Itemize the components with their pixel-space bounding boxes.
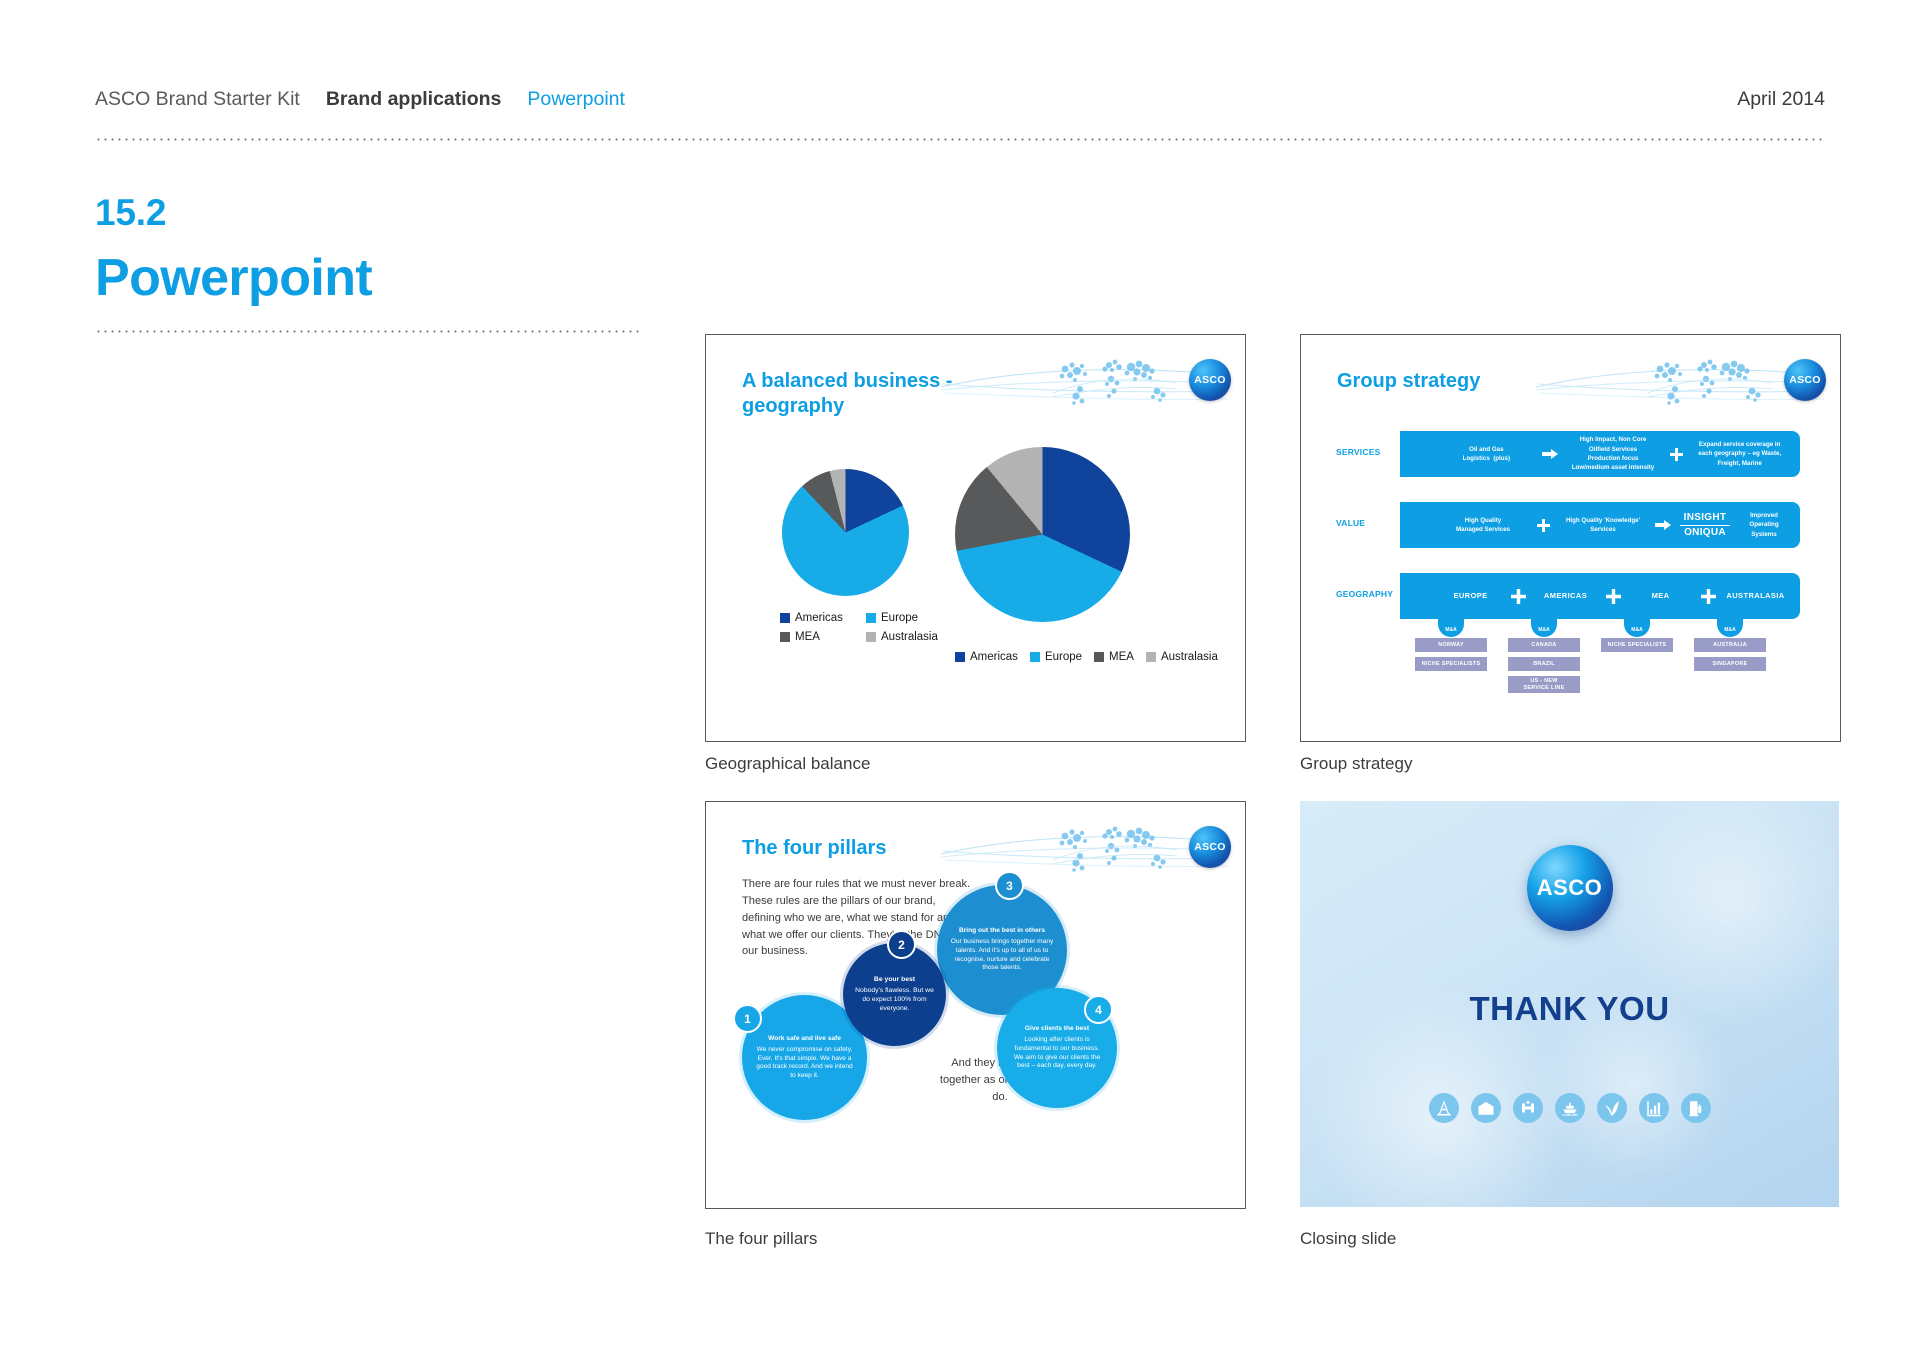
legend-label-mea: MEA (1109, 651, 1134, 663)
legend-label-americas: Americas (970, 651, 1018, 663)
geo-chip-australia: AUSTRALIA (1694, 638, 1766, 652)
ma-bubble-mea: M&A (1624, 619, 1650, 637)
asco-logo-badge: ASCO (1189, 359, 1231, 401)
asco-logo-text: ASCO (1194, 374, 1226, 386)
legend-label-americas: Americas (795, 612, 843, 624)
slide-title-line-2: geography (742, 394, 952, 419)
legend-swatch-americas (955, 652, 965, 662)
geo-cell-europe: EUROPE (1434, 590, 1507, 601)
warehouse-icon (1471, 1093, 1501, 1123)
legend-swatch-australasia (1146, 652, 1156, 662)
strategy-band-geography: EUROPE AMERICAS MEA AUSTRALASIA (1400, 573, 1800, 619)
breadcrumb: ASCO Brand Starter Kit Brand application… (95, 88, 1825, 111)
legend-label-australasia: Australasia (881, 631, 938, 643)
pie-legend-large: Americas Europe MEA Australasia (955, 651, 1230, 663)
breadcrumb-section: Brand applications (326, 88, 502, 111)
strategy-cell-value-2: High Quality 'Knowledge'Services (1554, 516, 1652, 535)
ma-bubble-australasia: M&A (1717, 619, 1743, 637)
caption-geographical-balance: Geographical balance (705, 754, 870, 774)
strategy-band-value: High QualityManaged Services High Qualit… (1400, 502, 1800, 548)
closing-icon-strip (1300, 1093, 1839, 1123)
slide-title-four-pillars: The four pillars (742, 836, 886, 861)
pie-chart-large (955, 447, 1130, 622)
pillar-body-2: Nobody's flawless. But we do expect 100%… (854, 987, 935, 1013)
caption-group-strategy: Group strategy (1300, 754, 1412, 774)
asco-logo-badge: ASCO (1784, 359, 1826, 401)
strategy-insight-oniqua: INSIGHT ONIQUA (1674, 512, 1736, 538)
caption-four-pillars: The four pillars (705, 1229, 817, 1249)
geo-chip-canada: CANADA (1508, 638, 1580, 652)
geo-chip-niche-specialists-mea: NICHE SPECIALISTS (1601, 638, 1673, 652)
insight-label: INSIGHT (1674, 512, 1736, 523)
plus-icon (1532, 519, 1554, 532)
pillar-number-2: 2 (887, 930, 916, 959)
legend-label-europe: Europe (881, 612, 918, 624)
page-title: Powerpoint (95, 248, 372, 308)
asco-logo-text: ASCO (1537, 875, 1603, 901)
slide-title-line-1: A balanced business - (742, 369, 952, 394)
legend-swatch-europe (866, 613, 876, 623)
strategy-cell-value-note: ImprovedOperatingSystems (1736, 511, 1792, 539)
geo-chip-norway: NORWAY (1415, 638, 1487, 652)
slide-geographical-balance[interactable]: ASCO A balanced business - geography Ame… (705, 334, 1246, 742)
legend-swatch-mea (1094, 652, 1104, 662)
pillar-number-1: 1 (733, 1004, 762, 1033)
strategy-row-label-value: VALUE (1336, 518, 1400, 528)
pillar-body-4: Looking after clients is fundamental to … (1009, 1036, 1105, 1070)
world-map-icon (1644, 353, 1774, 411)
bar-chart-icon (1639, 1093, 1669, 1123)
legend-label-mea: MEA (795, 631, 820, 643)
legend-swatch-australasia (866, 632, 876, 642)
arrow-right-icon (1652, 520, 1674, 530)
geo-chip-singapore: SINGAPORE (1694, 657, 1766, 671)
legend-swatch-mea (780, 632, 790, 642)
slide-closing[interactable]: ASCO THANK YOU (1300, 801, 1839, 1207)
geo-chip-brazil: BRAZIL (1508, 657, 1580, 671)
slide-title-group-strategy: Group strategy (1337, 369, 1480, 394)
geo-cell-mea: MEA (1624, 590, 1697, 601)
strategy-row-label-services: SERVICES (1336, 447, 1400, 457)
ma-bubble-europe: M&A (1438, 619, 1464, 637)
slide-group-strategy[interactable]: ASCO Group strategy SERVICES Oil and Gas… (1300, 334, 1841, 742)
breadcrumb-kit: ASCO Brand Starter Kit (95, 88, 300, 111)
pillar-body-3: Our business brings together many talent… (950, 938, 1054, 972)
strategy-row-label-geography: GEOGRAPHY (1336, 589, 1400, 599)
thank-you-message: THANK YOU (1300, 990, 1839, 1028)
oil-rig-icon (1429, 1093, 1459, 1123)
plus-icon (1507, 589, 1529, 604)
strategy-cell-services-2: High Impact, Non CoreOilfield ServicesPr… (1561, 435, 1666, 472)
pillar-heading-1: Work safe and live safe (768, 1035, 841, 1043)
geo-chip-us-new-service-line: US - NEWSERVICE LINE (1508, 676, 1580, 693)
plus-icon (1602, 589, 1624, 604)
pie-legend-small: Americas Europe MEA Australasia (780, 612, 960, 650)
fuel-pump-icon (1681, 1093, 1711, 1123)
asco-logo-text: ASCO (1789, 374, 1821, 386)
header-date: April 2014 (1737, 88, 1825, 111)
pillar-bubble-2[interactable]: Be your best Nobody's flawless. But we d… (843, 943, 946, 1046)
header-divider (95, 138, 1825, 141)
legend-swatch-americas (780, 613, 790, 623)
asco-logo-badge: ASCO (1189, 826, 1231, 868)
asco-logo-large: ASCO (1527, 845, 1613, 931)
geo-cell-australasia: AUSTRALASIA (1719, 590, 1792, 601)
strategy-cell-services-1: Oil and GasLogistics (plus) (1434, 445, 1539, 464)
oniqua-label: ONIQUA (1674, 527, 1736, 538)
geo-chip-niche-specialists-europe: NICHE SPECIALISTS (1415, 657, 1487, 671)
legend-label-australasia: Australasia (1161, 651, 1218, 663)
slide-title-geography: A balanced business - geography (742, 369, 952, 419)
pillar-heading-4: Give clients the best (1025, 1025, 1089, 1033)
section-number: 15.2 (95, 192, 166, 234)
page-header: ASCO Brand Starter Kit Brand application… (95, 88, 1825, 128)
breadcrumb-subsection: Powerpoint (527, 88, 625, 111)
asco-logo-text: ASCO (1194, 841, 1226, 853)
pillar-heading-3: Bring out the best in others (959, 927, 1045, 935)
ma-bubble-americas: M&A (1531, 619, 1557, 637)
plus-icon (1697, 589, 1719, 604)
pillar-number-3: 3 (995, 871, 1024, 900)
strategy-cell-value-1: High QualityManaged Services (1434, 516, 1532, 535)
plus-icon (1665, 448, 1687, 461)
slide-four-pillars[interactable]: ASCO The four pillars There are four rul… (705, 801, 1246, 1209)
pipe-valve-icon (1513, 1093, 1543, 1123)
pie-chart-small (782, 469, 909, 596)
world-map-icon (1049, 820, 1179, 878)
environment-leaf-icon (1597, 1093, 1627, 1123)
title-divider (95, 330, 640, 333)
insight-divider (1680, 525, 1730, 526)
pillar-body-1: We never compromise on safety. Ever. It'… (755, 1046, 854, 1080)
world-map-icon (1049, 353, 1179, 411)
arrow-right-icon (1539, 449, 1561, 459)
supply-vessel-icon (1555, 1093, 1585, 1123)
pillar-heading-2: Be your best (874, 976, 915, 984)
strategy-band-services: Oil and GasLogistics (plus) High Impact,… (1400, 431, 1800, 477)
legend-label-europe: Europe (1045, 651, 1082, 663)
strategy-cell-services-3: Expand service coverage ineach geography… (1687, 440, 1792, 468)
pillar-number-4: 4 (1084, 995, 1113, 1024)
geo-cell-americas: AMERICAS (1529, 590, 1602, 601)
caption-closing-slide: Closing slide (1300, 1229, 1396, 1249)
legend-swatch-europe (1030, 652, 1040, 662)
